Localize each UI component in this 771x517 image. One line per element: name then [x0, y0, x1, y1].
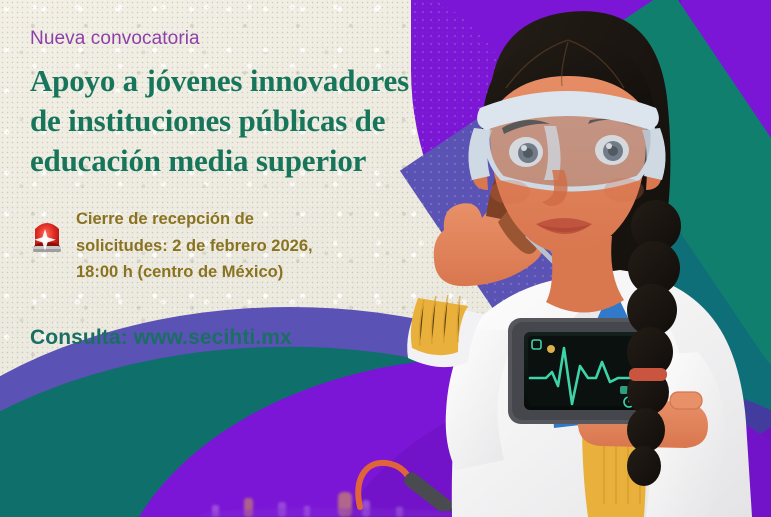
headline-line-2: de instituciones públicas de	[30, 101, 530, 141]
poster-canvas: Nueva convocatoria Apoyo a jóvenes innov…	[0, 0, 771, 517]
deadline-text: Cierre de recepción de solicitudes: 2 de…	[76, 202, 313, 286]
website-link[interactable]: Consulta: www.secihti.mx	[30, 326, 530, 350]
kicker-label: Nueva convocatoria	[30, 28, 530, 50]
rotating-light-icon	[30, 216, 64, 256]
hair-tie	[629, 368, 667, 381]
headline-line-1: Apoyo a jóvenes innovadores	[30, 61, 530, 101]
headline-line-3: educación media superior	[30, 141, 530, 181]
page-title: Apoyo a jóvenes innovadores de instituci…	[30, 61, 530, 181]
deadline-line-3: 18:00 h (centro de México)	[76, 259, 313, 286]
deadline-block: Cierre de recepción de solicitudes: 2 de…	[30, 202, 530, 286]
deadline-line-1: Cierre de recepción de	[76, 206, 313, 233]
deadline-line-2: solicitudes: 2 de febrero 2026,	[76, 233, 313, 260]
poster-text-block: Nueva convocatoria Apoyo a jóvenes innov…	[30, 28, 530, 350]
